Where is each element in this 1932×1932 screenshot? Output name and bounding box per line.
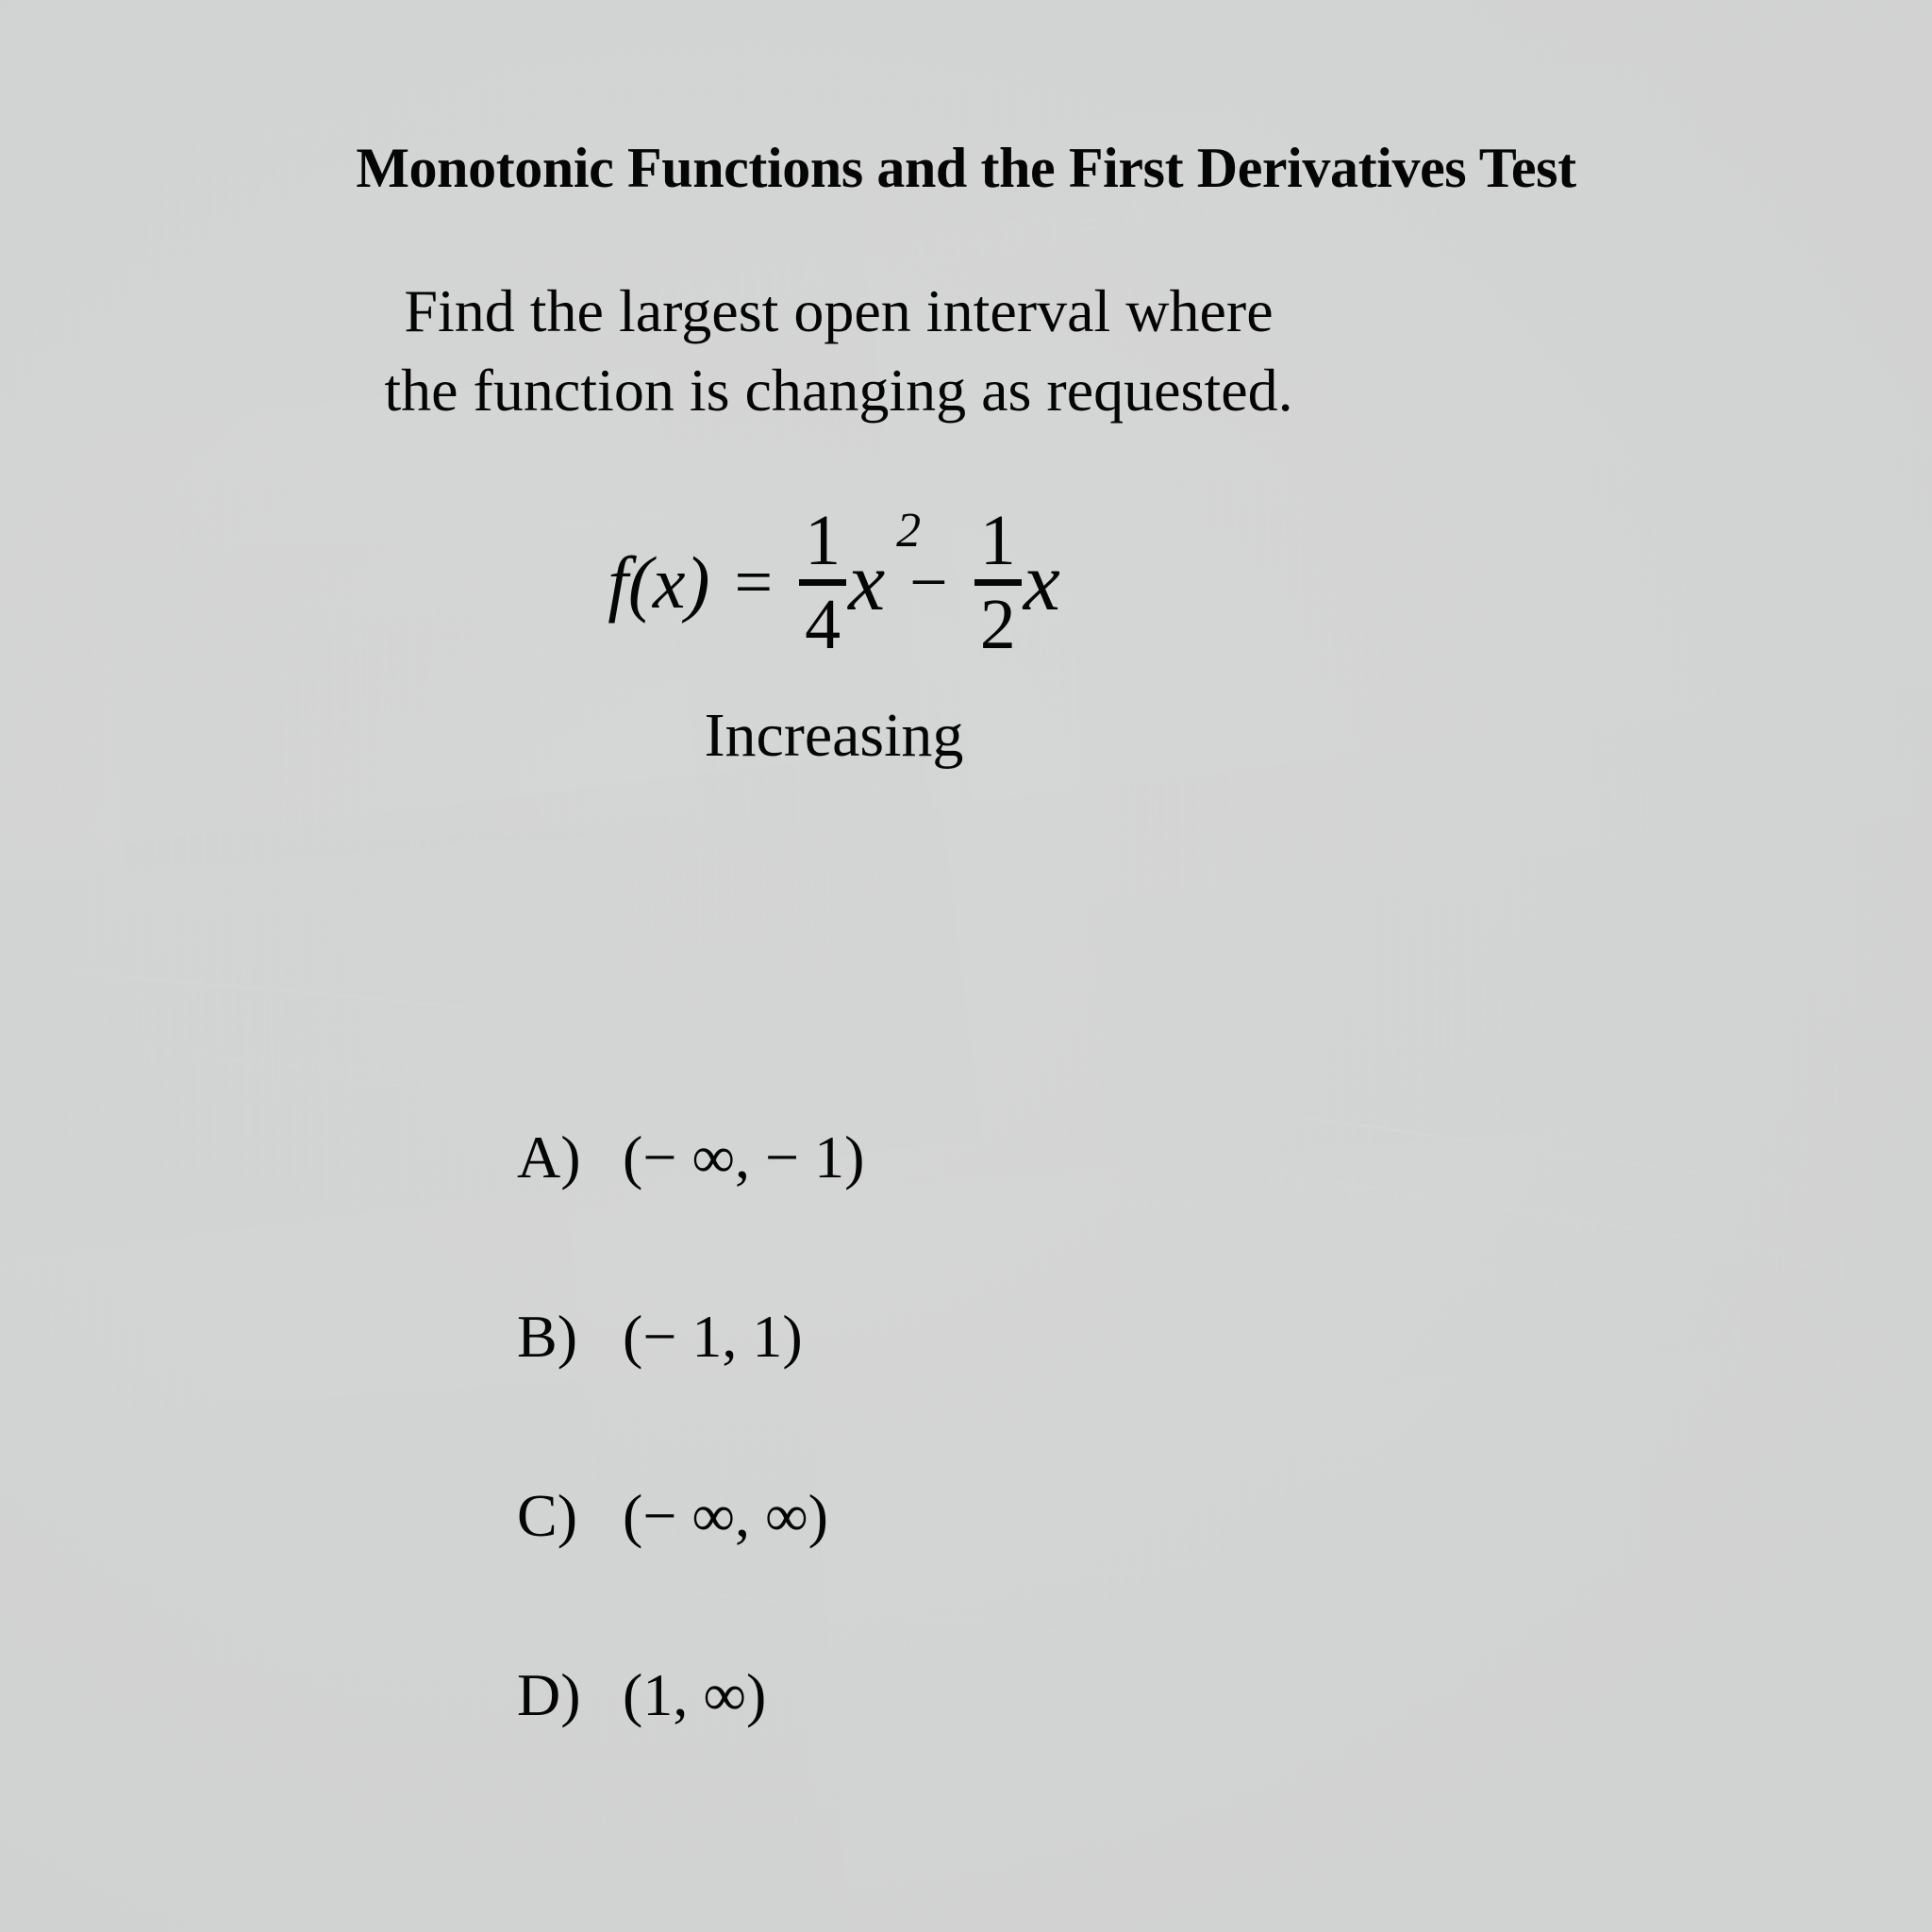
question-prompt-line-1: Find the largest open interval where [0, 272, 1677, 351]
fraction-denominator: 2 [974, 590, 1022, 659]
answer-option-c[interactable]: C) (− ∞, ∞) [517, 1481, 864, 1660]
option-value: (− 1, 1) [623, 1302, 803, 1372]
exponent-2: 2 [896, 503, 921, 558]
equals-sign: = [734, 543, 773, 622]
option-value: (− ∞, ∞) [623, 1481, 828, 1551]
answer-option-b[interactable]: B) (− 1, 1) [517, 1302, 864, 1481]
term-x-squared: x 2 [848, 535, 885, 630]
function-name: f(x) [608, 541, 709, 625]
question-prompt: Find the largest open interval where the… [0, 272, 1932, 431]
fraction-numerator: 1 [799, 506, 846, 575]
answer-option-a[interactable]: A) (− ∞, − 1) [517, 1123, 864, 1302]
fraction-one-quarter: 1 4 [799, 506, 846, 660]
slide-content: Monotonic Functions and the First Deriva… [0, 0, 1932, 1932]
term-x: x [1024, 535, 1060, 630]
fraction-one-half: 1 2 [974, 506, 1022, 660]
option-label: C) [517, 1481, 623, 1551]
option-label: B) [517, 1302, 623, 1372]
fraction-denominator: 4 [799, 590, 846, 659]
monotonicity-direction: Increasing [0, 700, 1932, 772]
function-formula: f(x) = 1 4 x 2 − 1 2 x [0, 506, 1932, 660]
variable-x: x [848, 537, 885, 628]
page-title: Monotonic Functions and the First Deriva… [0, 140, 1932, 196]
question-prompt-line-2: the function is changing as requested. [0, 351, 1677, 430]
option-label: D) [517, 1660, 623, 1730]
option-value: (− ∞, − 1) [623, 1123, 864, 1192]
answer-option-d[interactable]: D) (1, ∞) [517, 1660, 864, 1840]
answer-options: A) (− ∞, − 1) B) (− 1, 1) C) (− ∞, ∞) D)… [517, 1123, 864, 1840]
option-value: (1, ∞) [623, 1660, 766, 1730]
fraction-numerator: 1 [974, 506, 1022, 575]
option-label: A) [517, 1123, 623, 1192]
variable-x: x [1024, 537, 1060, 628]
